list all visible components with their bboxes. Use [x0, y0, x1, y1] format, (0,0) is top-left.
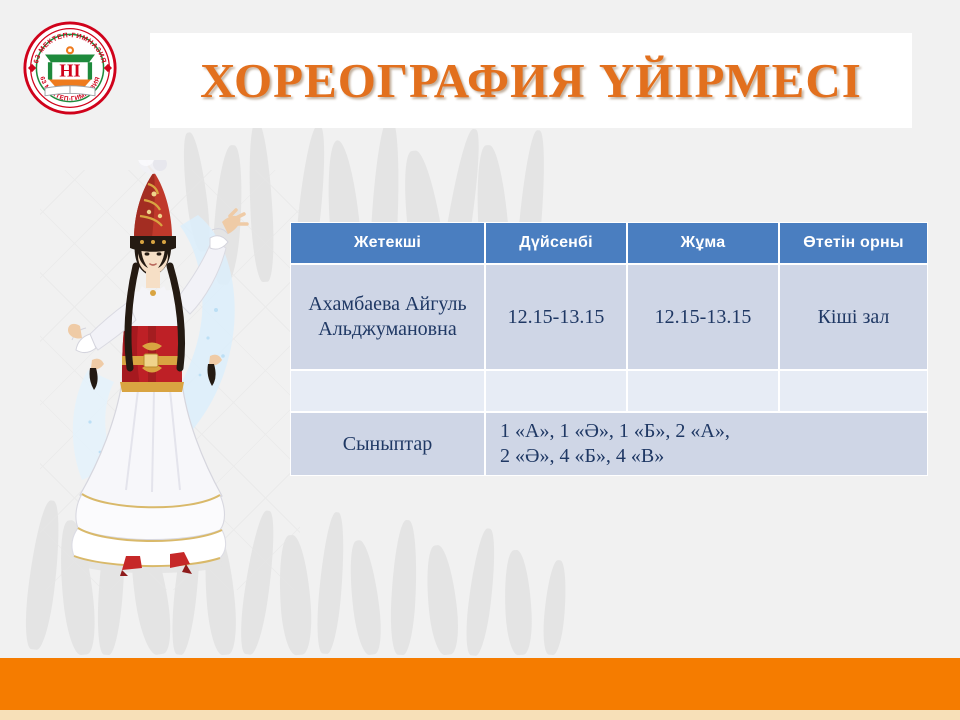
silhouette-shape	[345, 539, 385, 656]
cell-place: Кіші зал	[779, 264, 928, 370]
school-emblem-logo: 63 МЕКТЕП-ГИМНАЗИЯ 63 МЕКТЕП-ГИМНАЗИЯ НІ	[22, 20, 118, 116]
cell-classes-value: 1 «А», 1 «Ә», 1 «Б», 2 «А», 2 «Ә», 4 «Б»…	[485, 412, 928, 476]
silhouette-shape	[462, 527, 499, 657]
table-row-classes: Сыныптар 1 «А», 1 «Ә», 1 «Б», 2 «А», 2 «…	[290, 412, 928, 476]
table-header-row: Жетекші Дүйсенбі Жұма Өтетін орны	[290, 222, 928, 264]
classes-line-2: 2 «Ә», 4 «Б», 4 «В»	[500, 445, 664, 467]
schedule-table: Жетекші Дүйсенбі Жұма Өтетін орны Ахамба…	[290, 222, 928, 476]
silhouette-shape	[314, 511, 348, 654]
cell-monday-time: 12.15-13.15	[485, 264, 627, 370]
slide: ХОРЕОГРАФИЯ ҮЙІРМЕСІ 63 МЕКТЕП-ГИМНАЗИЯ …	[0, 0, 960, 720]
table-row: Ахамбаева Айгуль Альджумановна 12.15-13.…	[290, 264, 928, 370]
column-header-monday: Дүйсенбі	[485, 222, 627, 264]
classes-line-1: 1 «А», 1 «Ә», 1 «Б», 2 «А»,	[500, 420, 730, 442]
cell-friday-time: 12.15-13.15	[627, 264, 779, 370]
page-title: ХОРЕОГРАФИЯ ҮЙІРМЕСІ	[200, 52, 862, 109]
cell-empty-leader	[290, 370, 485, 412]
column-header-place: Өтетін орны	[779, 222, 928, 264]
table-body: Ахамбаева Айгуль Альджумановна 12.15-13.…	[290, 264, 928, 476]
kazakh-dancer-illustration	[30, 160, 270, 580]
bottom-accent-bar	[0, 658, 960, 710]
title-band: ХОРЕОГРАФИЯ ҮЙІРМЕСІ	[150, 33, 912, 128]
cell-empty-monday	[485, 370, 627, 412]
cell-empty-friday	[627, 370, 779, 412]
silhouette-shape	[422, 544, 461, 656]
bottom-accent-strip	[0, 710, 960, 720]
silhouette-shape	[541, 559, 569, 655]
column-header-leader: Жетекші	[290, 222, 485, 264]
cell-empty-place	[779, 370, 928, 412]
table-header: Жетекші Дүйсенбі Жұма Өтетін орны	[290, 222, 928, 264]
cell-classes-label: Сыныптар	[290, 412, 485, 476]
silhouette-shape	[388, 519, 419, 655]
column-header-friday: Жұма	[627, 222, 779, 264]
table-row-empty	[290, 370, 928, 412]
svg-text:НІ: НІ	[59, 61, 80, 81]
cell-leader-name: Ахамбаева Айгуль Альджумановна	[290, 264, 485, 370]
silhouette-shape	[502, 549, 533, 655]
